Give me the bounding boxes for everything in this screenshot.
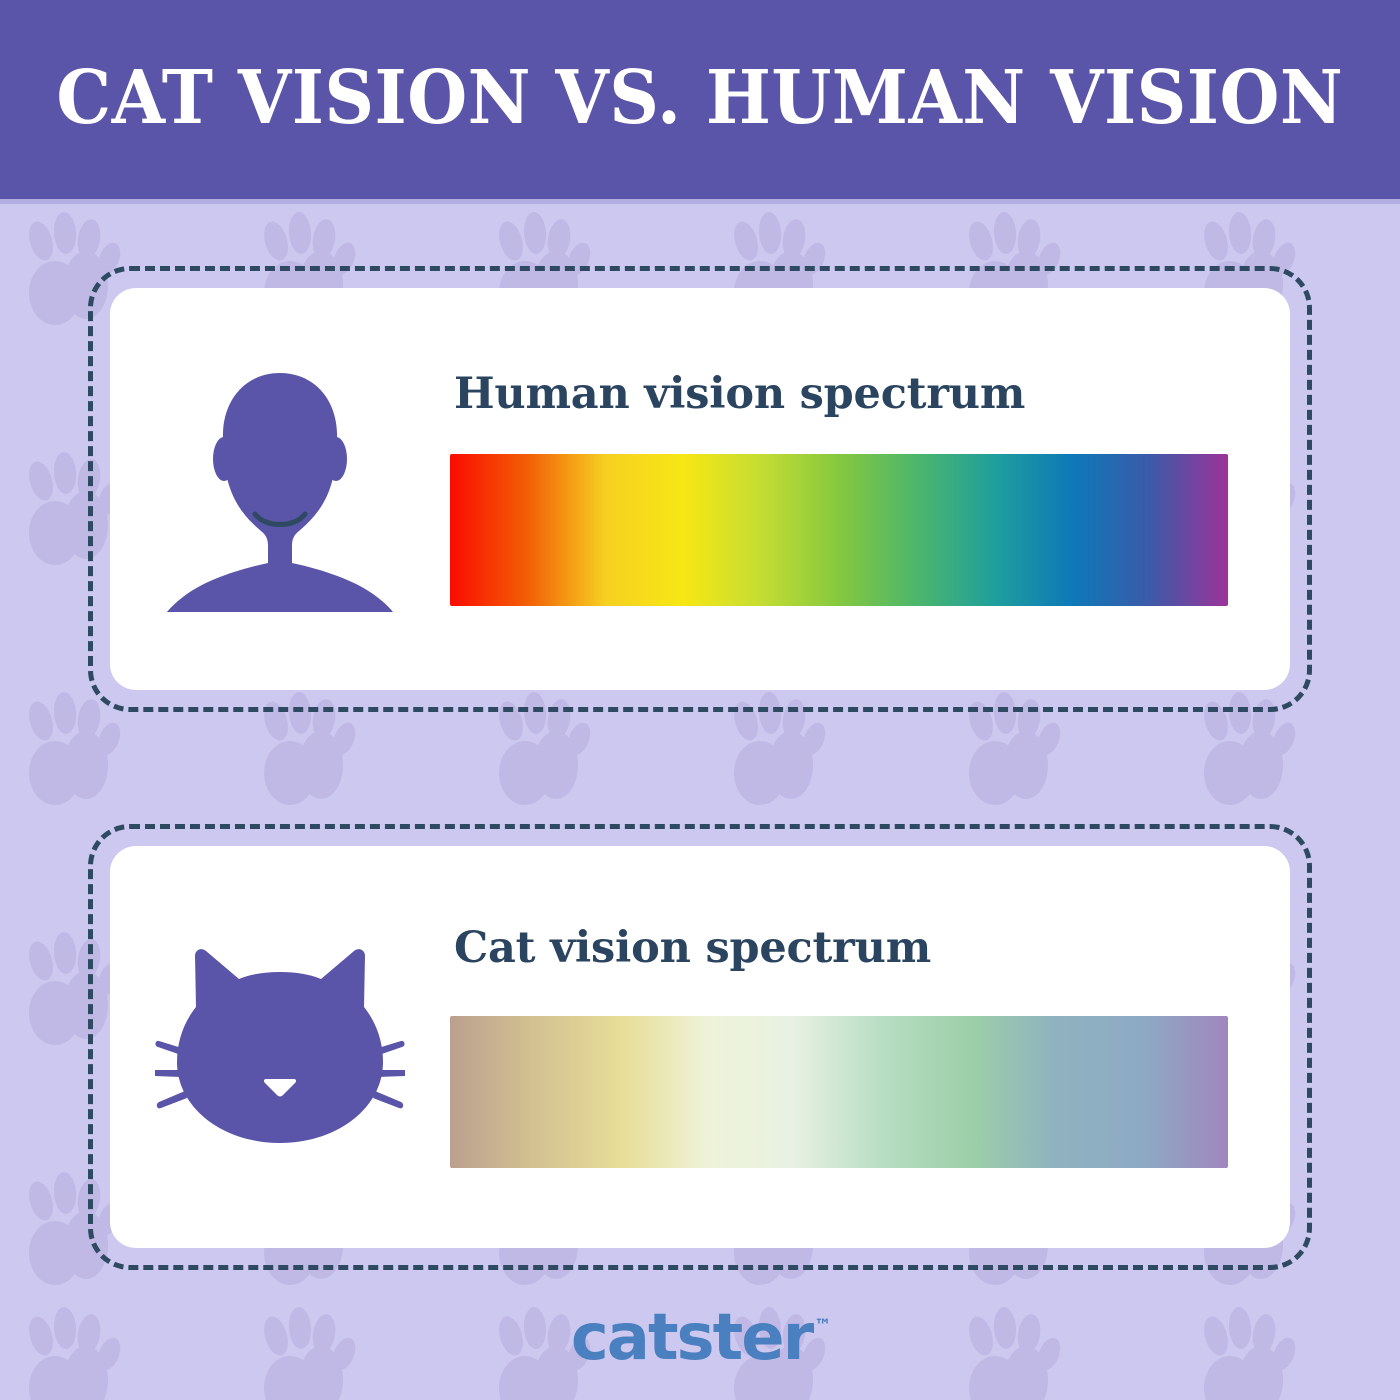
header-underline-divider [0, 199, 1400, 204]
footer-logo[interactable]: catster™ [0, 1306, 1400, 1370]
panel-card: Human vision spectrum [110, 288, 1290, 690]
cat-spectrum-label: Cat vision spectrum [454, 927, 1228, 970]
human-vision-spectrum-bar [450, 454, 1228, 606]
human-head-silhouette-icon [165, 367, 395, 612]
page-title: CAT VISION VS. HUMAN VISION [57, 61, 1344, 139]
header-banner: CAT VISION VS. HUMAN VISION [0, 0, 1400, 199]
cat-icon-column [110, 945, 450, 1150]
cat-spectrum-column: Cat vision spectrum [450, 927, 1290, 1168]
cat-face-silhouette-icon [155, 945, 405, 1150]
cat-vision-panel: Cat vision spectrum [88, 824, 1312, 1270]
panel-card: Cat vision spectrum [110, 846, 1290, 1248]
trademark-symbol: ™ [814, 1316, 831, 1336]
human-spectrum-column: Human vision spectrum [450, 373, 1290, 606]
human-spectrum-label: Human vision spectrum [454, 373, 1228, 416]
catster-logo-text: catster [571, 1306, 812, 1370]
cat-vision-spectrum-bar [450, 1016, 1228, 1168]
human-vision-panel: Human vision spectrum [88, 266, 1312, 712]
human-icon-column [110, 367, 450, 612]
